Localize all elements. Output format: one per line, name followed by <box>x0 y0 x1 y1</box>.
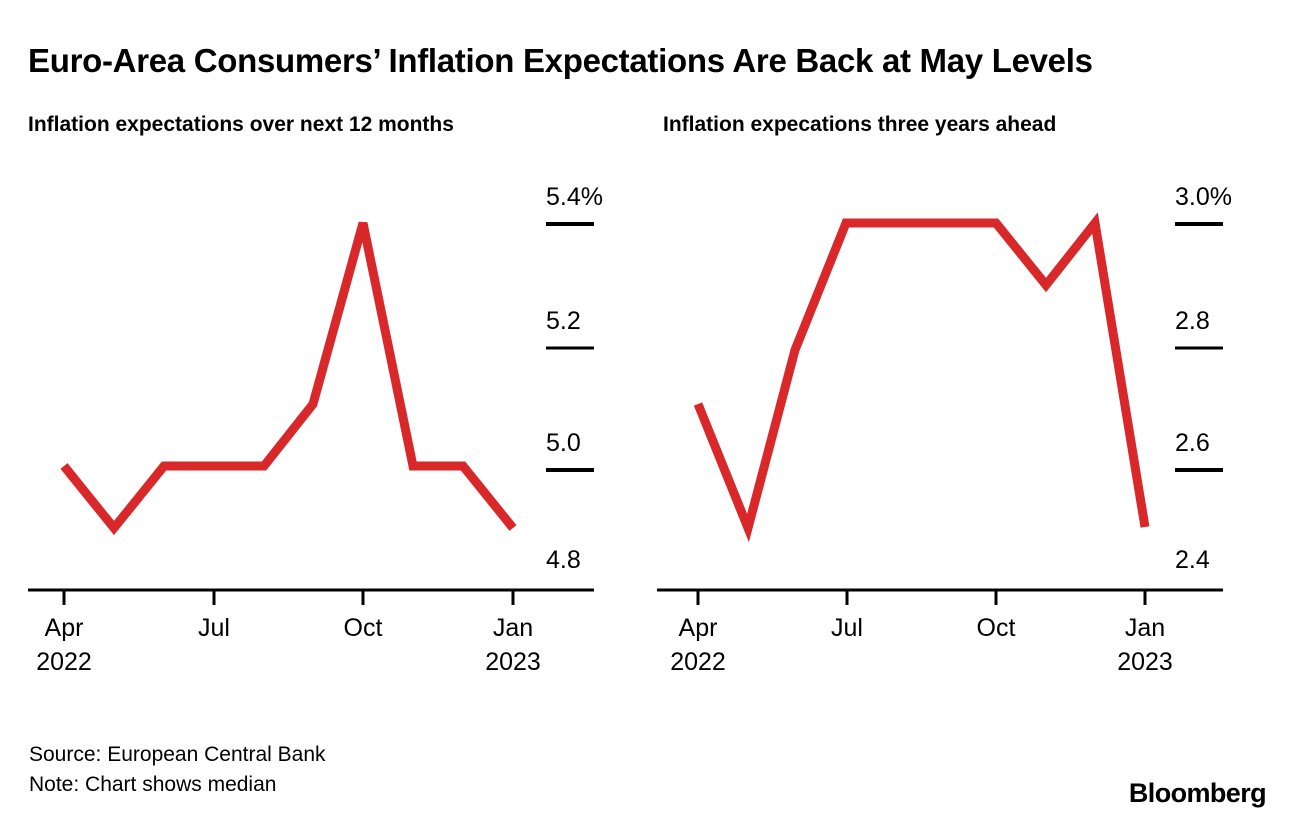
right-xtick-label-jul: Jul <box>787 612 907 646</box>
bloomberg-logo: Bloomberg <box>1129 778 1266 809</box>
right-xtick-label-apr: Apr 2022 <box>638 612 758 680</box>
left-series-line <box>64 223 513 528</box>
left-ytick-label-5.2: 5.2 <box>546 307 581 336</box>
right-xtick-month-oct: Oct <box>936 612 1056 646</box>
right-xtick-month-jul: Jul <box>787 612 907 646</box>
left-ytick-label-5.0: 5.0 <box>546 429 581 458</box>
right-chart-panel: 3.0% 2.8 2.6 2.4 Apr 2022 Jul Oct Jan 20… <box>635 0 1275 826</box>
right-xtick-year-2022: 2022 <box>638 646 758 680</box>
left-xtick-year-2023: 2023 <box>453 646 573 680</box>
left-xtick-label-oct: Oct <box>303 612 423 646</box>
right-chart-plot <box>635 0 1275 700</box>
left-xtick-month-jan: Jan <box>453 612 573 646</box>
left-xtick-month-oct: Oct <box>303 612 423 646</box>
right-xtick-label-jan: Jan 2023 <box>1085 612 1205 680</box>
right-ytick-label-2.6: 2.6 <box>1175 429 1210 458</box>
left-xtick-month-jul: Jul <box>154 612 274 646</box>
left-chart-plot <box>0 0 640 700</box>
left-ytick-label-4.8: 4.8 <box>546 546 581 575</box>
left-ytick-label-5.4: 5.4% <box>546 183 603 212</box>
chart-page: Euro-Area Consumers’ Inflation Expectati… <box>0 0 1296 826</box>
left-xtick-month-apr: Apr <box>4 612 124 646</box>
left-xtick-label-apr: Apr 2022 <box>4 612 124 680</box>
source-note: Source: European Central Bank <box>29 740 326 770</box>
right-ytick-label-2.4: 2.4 <box>1175 546 1210 575</box>
left-chart-panel: 5.4% 5.2 5.0 4.8 Apr 2022 Jul Oct Jan 20… <box>0 0 640 826</box>
right-ytick-label-2.8: 2.8 <box>1175 307 1210 336</box>
left-xtick-year-2022: 2022 <box>4 646 124 680</box>
chart-note: Note: Chart shows median <box>29 770 326 800</box>
right-xtick-month-jan: Jan <box>1085 612 1205 646</box>
right-xtick-month-apr: Apr <box>638 612 758 646</box>
left-xtick-label-jul: Jul <box>154 612 274 646</box>
right-xtick-year-2023: 2023 <box>1085 646 1205 680</box>
right-ytick-label-3.0: 3.0% <box>1175 183 1232 212</box>
left-xtick-label-jan: Jan 2023 <box>453 612 573 680</box>
right-series-line <box>698 223 1145 528</box>
footnotes: Source: European Central Bank Note: Char… <box>29 740 326 800</box>
right-xtick-label-oct: Oct <box>936 612 1056 646</box>
